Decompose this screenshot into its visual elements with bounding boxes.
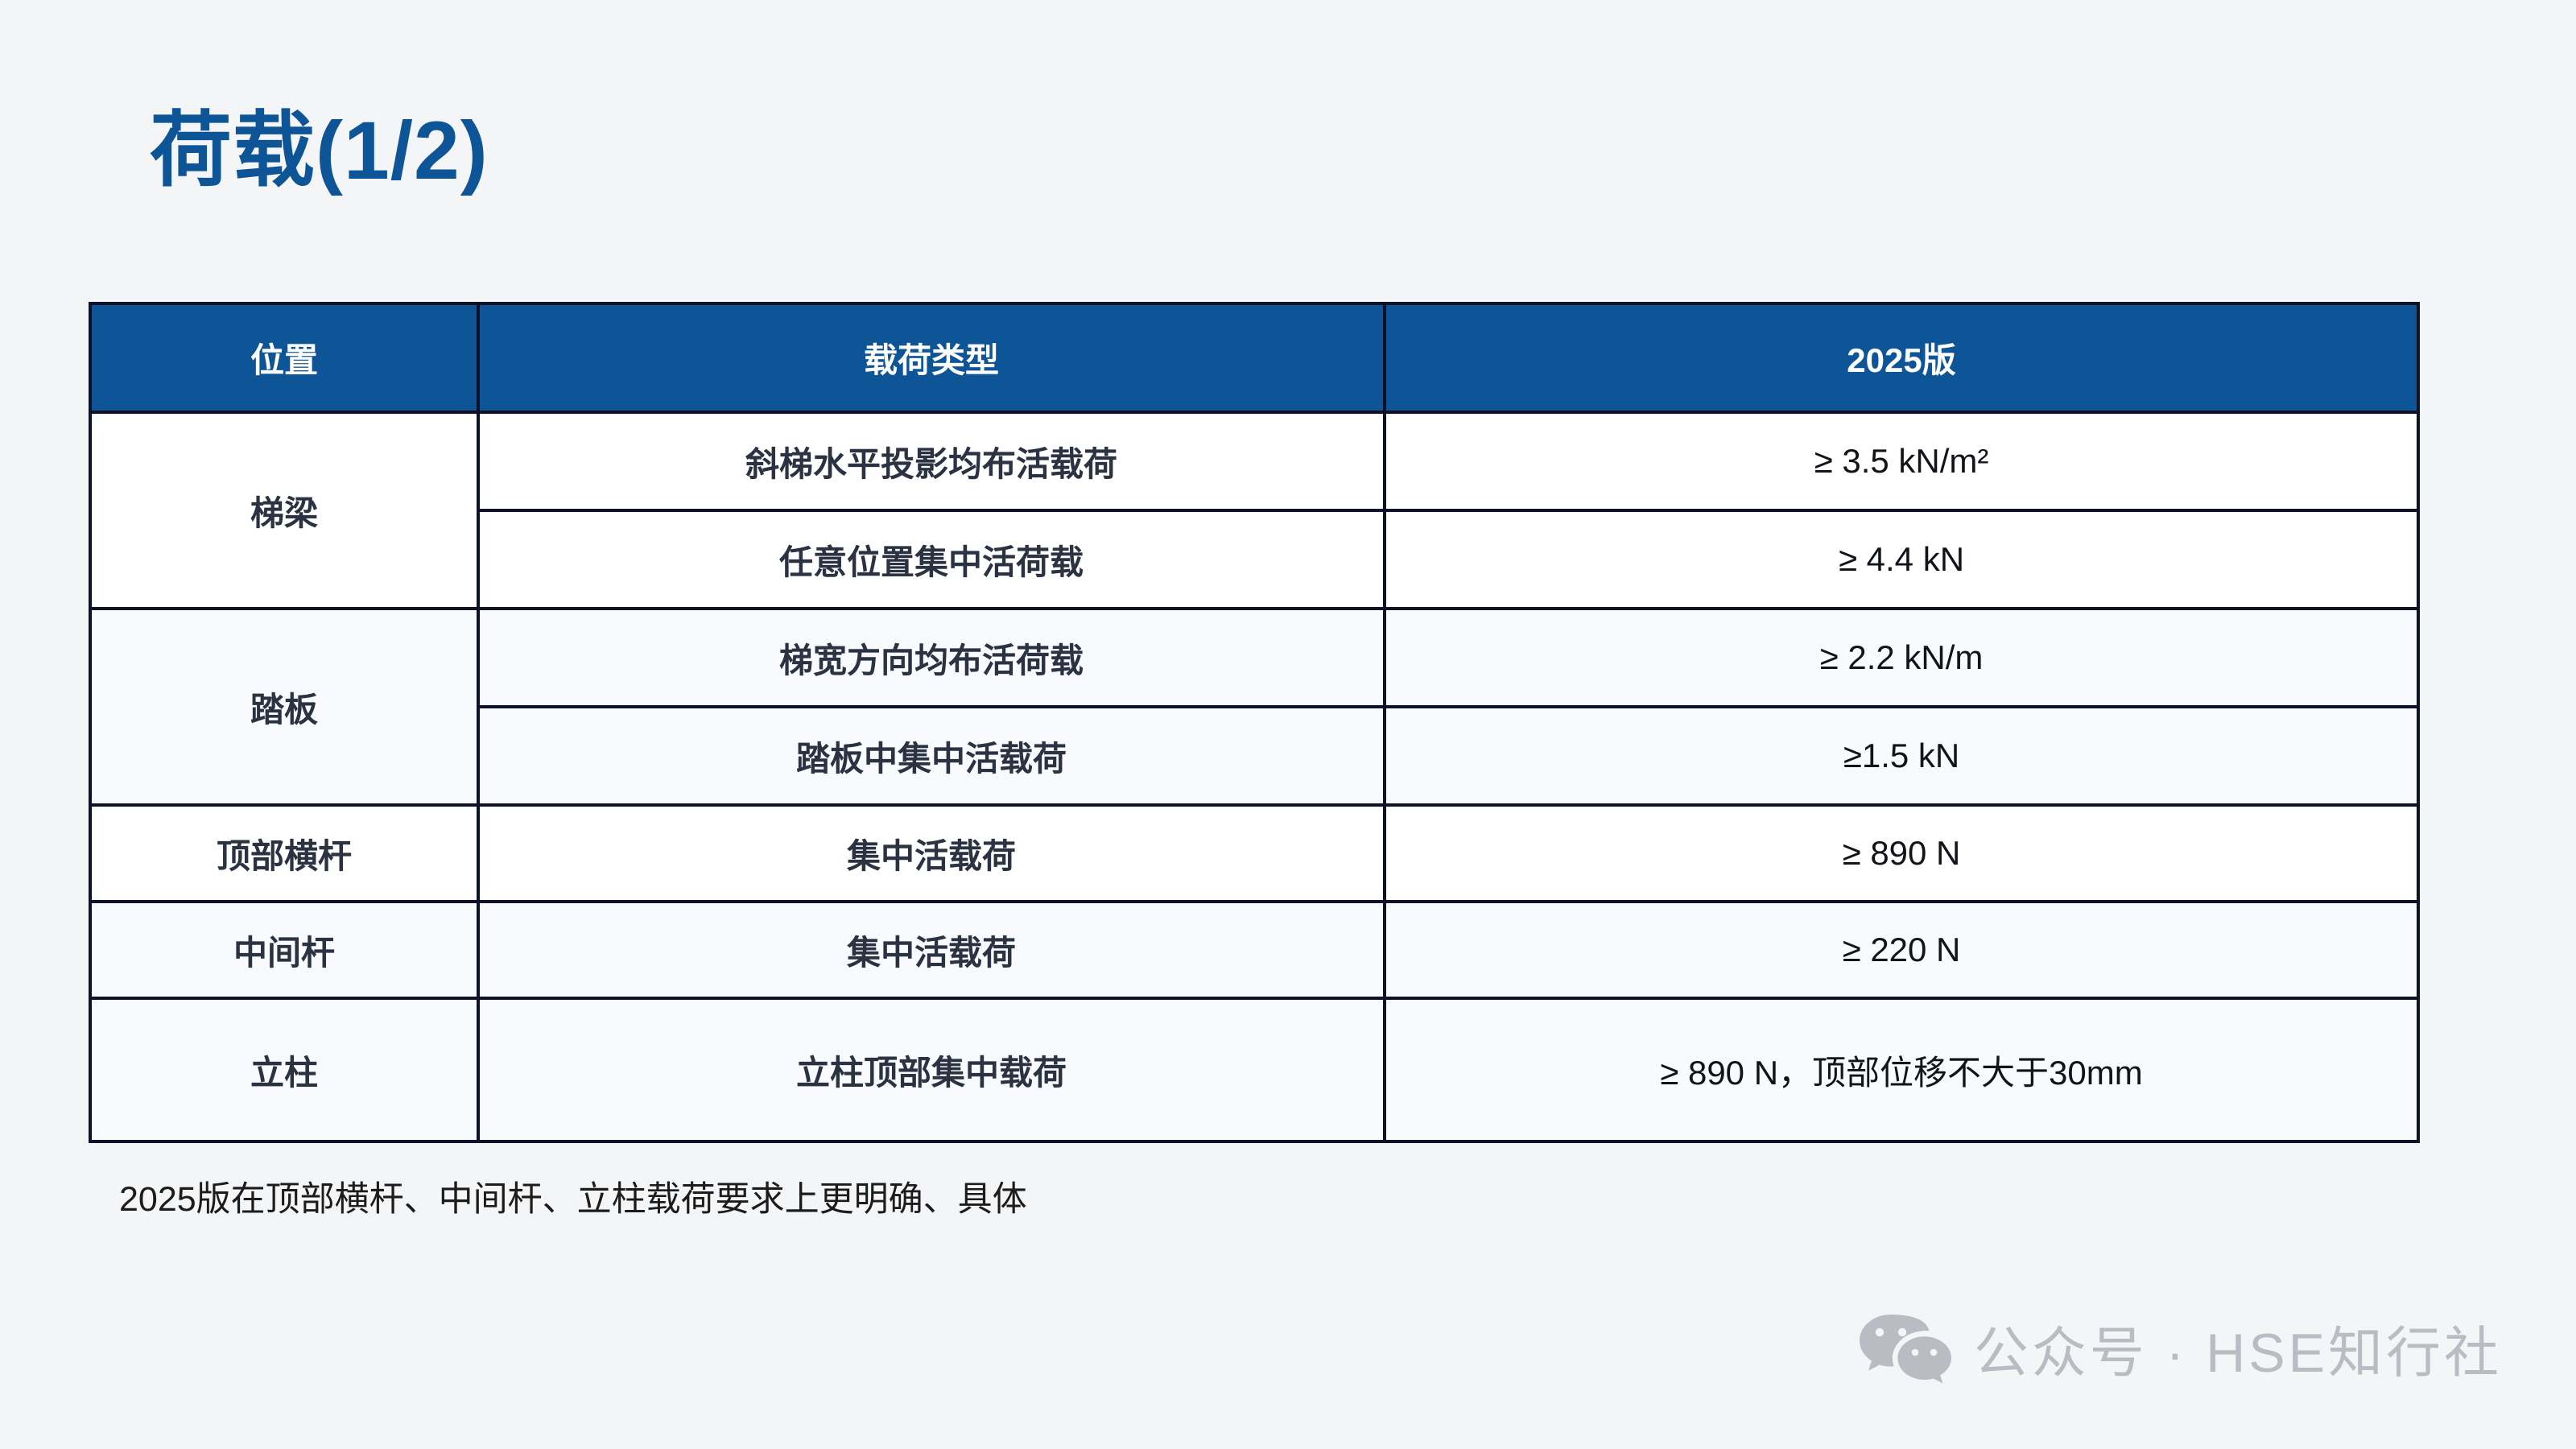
- cell-load-type: 踏板中集中活载荷: [478, 707, 1385, 805]
- table-row: 梯梁 斜梯水平投影均布活载荷 ≥ 3.5 kN/m²: [90, 412, 2418, 510]
- table-header: 位置 载荷类型 2025版: [90, 303, 2418, 412]
- column-header-location: 位置: [90, 303, 478, 412]
- table-header-row: 位置 载荷类型 2025版: [90, 303, 2418, 412]
- cell-load-type: 斜梯水平投影均布活载荷: [478, 412, 1385, 510]
- cell-value: ≥ 4.4 kN: [1385, 510, 2418, 609]
- cell-load-type: 任意位置集中活荷载: [478, 510, 1385, 609]
- cell-location: 顶部横杆: [90, 805, 478, 902]
- table-row: 踏板 梯宽方向均布活荷载 ≥ 2.2 kN/m: [90, 609, 2418, 707]
- footnote-text: 2025版在顶部横杆、中间杆、立柱载荷要求上更明确、具体: [119, 1171, 1027, 1221]
- watermark: 公众号 · HSE知行社: [1858, 1308, 2502, 1388]
- cell-value: ≥ 3.5 kN/m²: [1385, 412, 2418, 510]
- table-row: 立柱 立柱顶部集中载荷 ≥ 890 N，顶部位移不大于30mm: [90, 998, 2418, 1141]
- table-row: 中间杆 集中活载荷 ≥ 220 N: [90, 902, 2418, 998]
- cell-value: ≥ 890 N，顶部位移不大于30mm: [1385, 998, 2418, 1141]
- cell-value: ≥ 2.2 kN/m: [1385, 609, 2418, 707]
- wechat-icon: [1858, 1311, 1953, 1385]
- table-body: 梯梁 斜梯水平投影均布活载荷 ≥ 3.5 kN/m² 任意位置集中活荷载 ≥ 4…: [90, 412, 2418, 1141]
- page-title: 荷载(1/2): [150, 106, 489, 195]
- column-header-version: 2025版: [1385, 303, 2418, 412]
- cell-location: 梯梁: [90, 412, 478, 609]
- cell-location: 中间杆: [90, 902, 478, 998]
- cell-value: ≥ 220 N: [1385, 902, 2418, 998]
- cell-load-type: 集中活载荷: [478, 805, 1385, 902]
- cell-location: 立柱: [90, 998, 478, 1141]
- table-row: 顶部横杆 集中活载荷 ≥ 890 N: [90, 805, 2418, 902]
- cell-load-type: 立柱顶部集中载荷: [478, 998, 1385, 1141]
- cell-location: 踏板: [90, 609, 478, 805]
- slide-root: 荷载(1/2) 位置 载荷类型 2025版 梯梁 斜梯水平投影均布活载荷 ≥ 3…: [0, 0, 2576, 1449]
- column-header-load-type: 载荷类型: [478, 303, 1385, 412]
- cell-value: ≥1.5 kN: [1385, 707, 2418, 805]
- cell-value: ≥ 890 N: [1385, 805, 2418, 902]
- load-requirements-table: 位置 载荷类型 2025版 梯梁 斜梯水平投影均布活载荷 ≥ 3.5 kN/m²…: [89, 302, 2420, 1143]
- watermark-label: 公众号 · HSE知行社: [1974, 1308, 2502, 1388]
- cell-load-type: 集中活载荷: [478, 902, 1385, 998]
- cell-load-type: 梯宽方向均布活荷载: [478, 609, 1385, 707]
